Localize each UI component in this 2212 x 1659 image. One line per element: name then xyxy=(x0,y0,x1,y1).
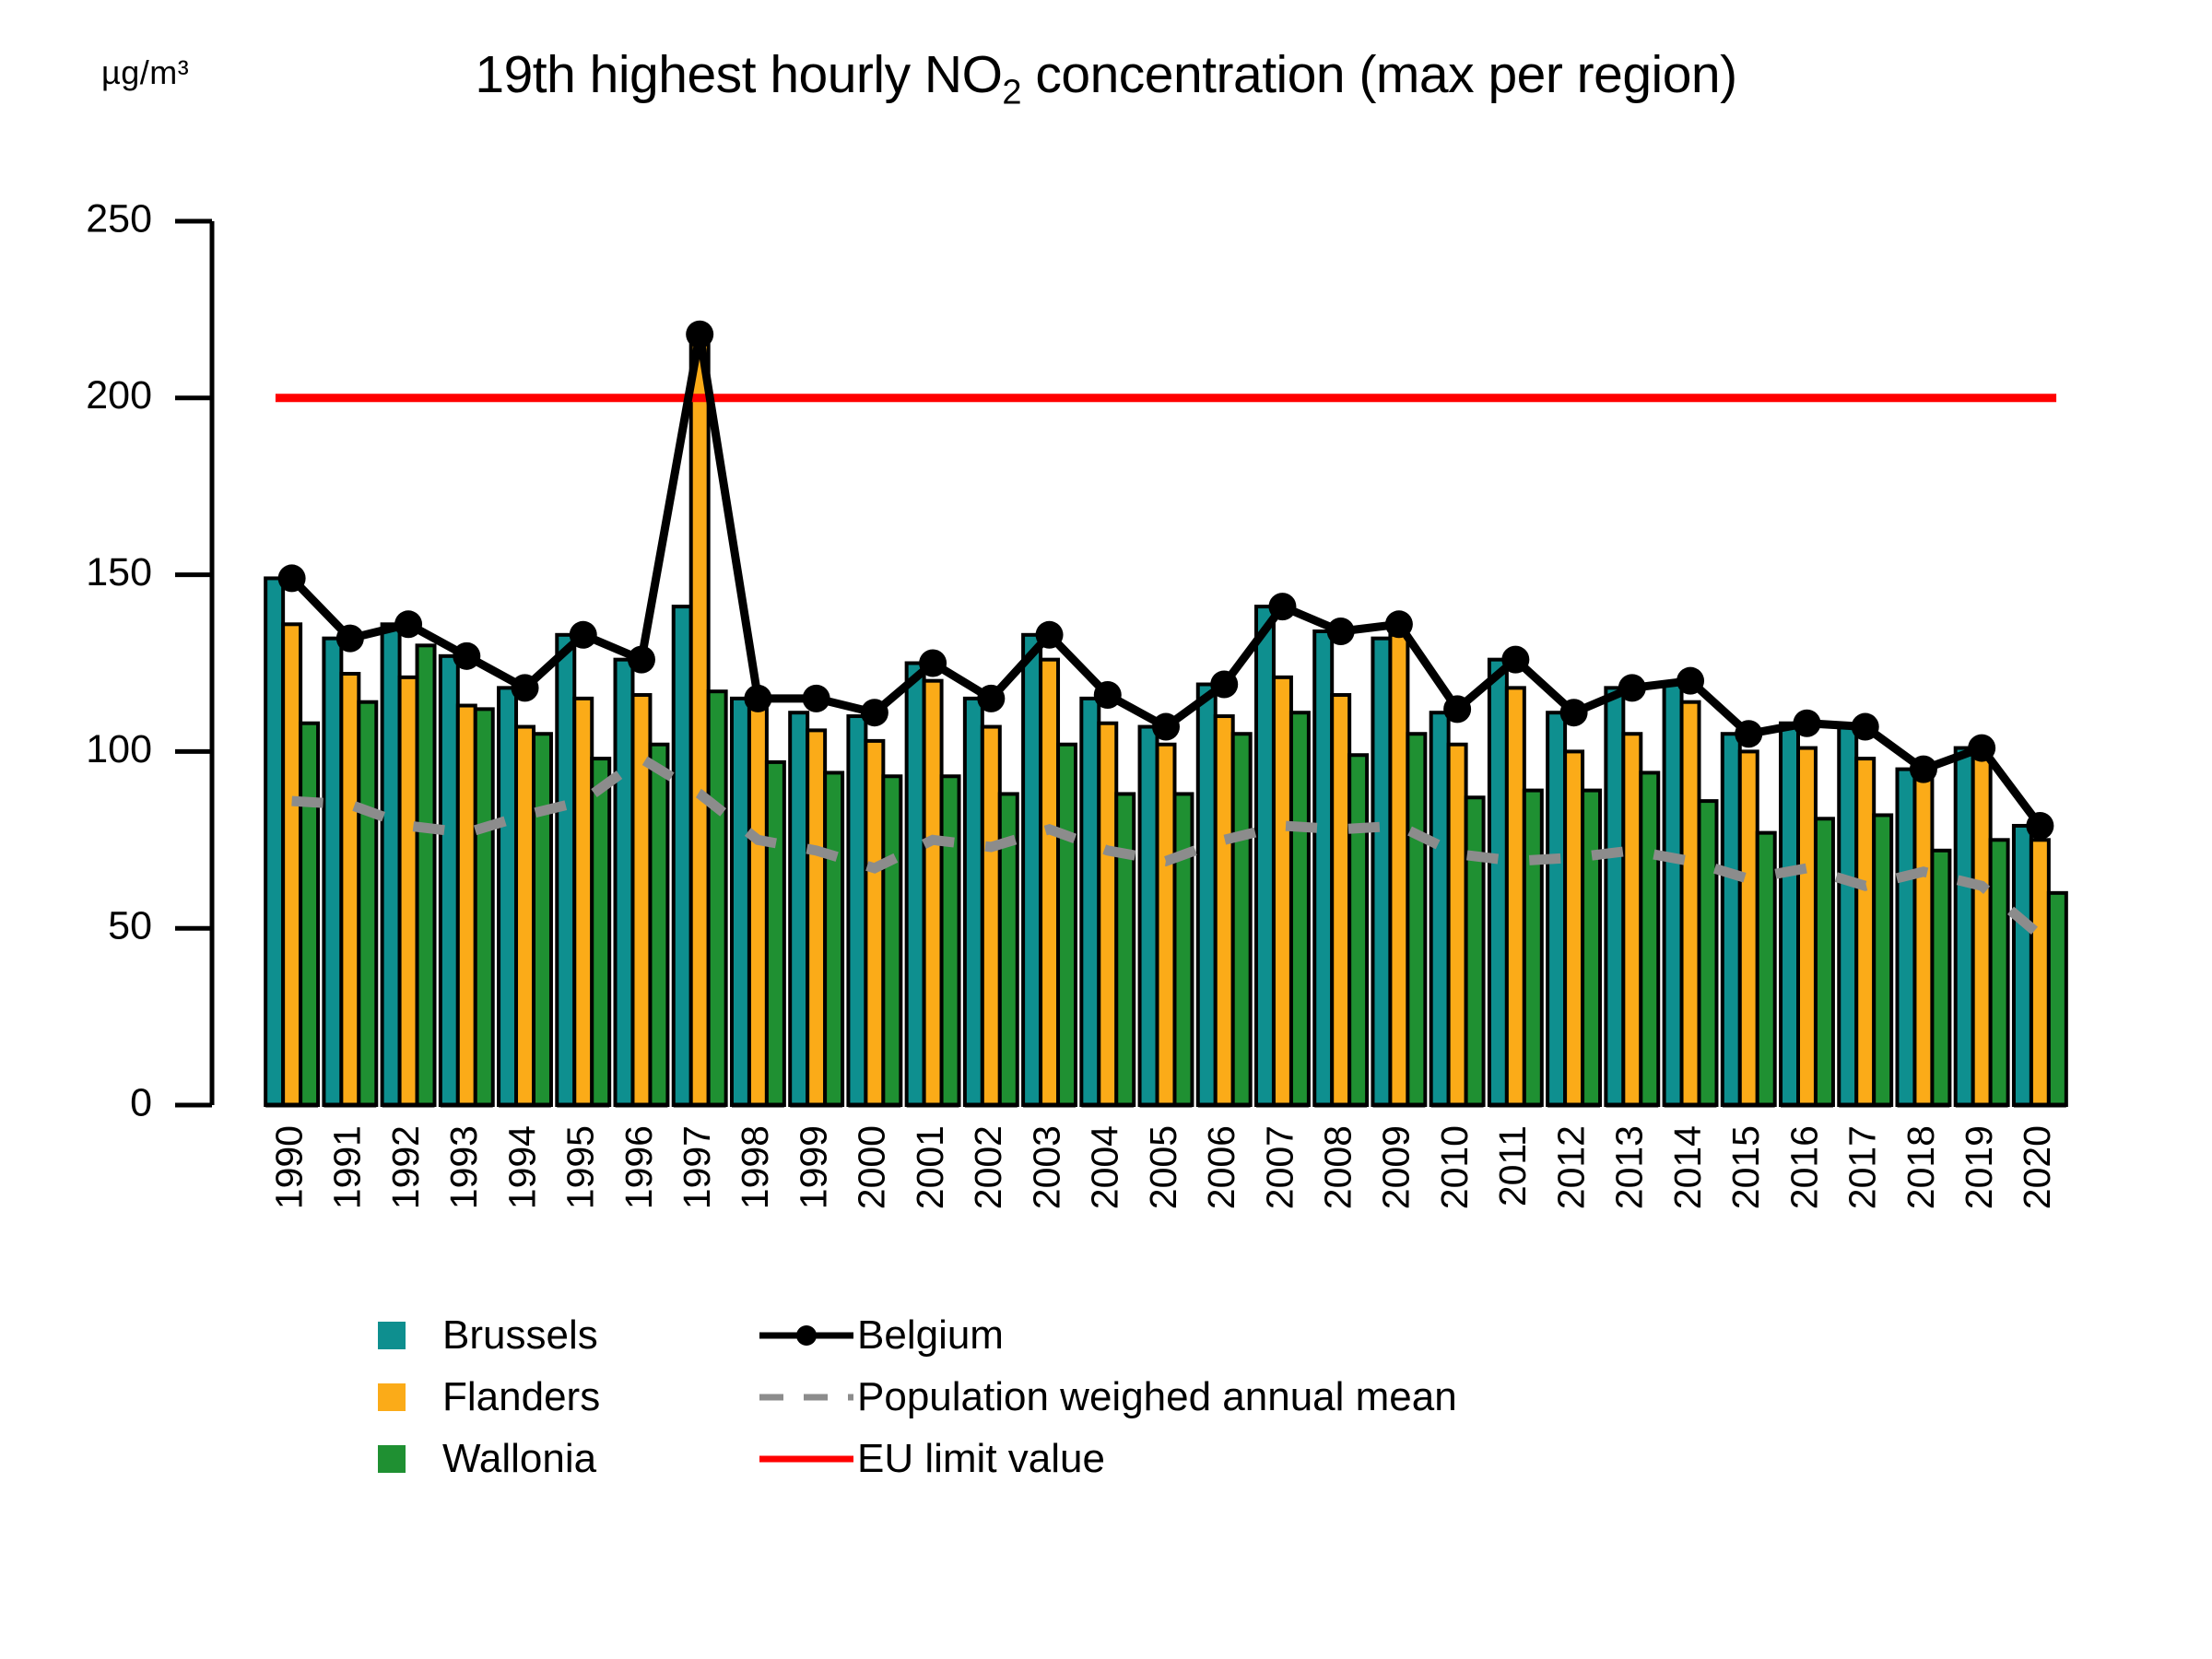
bar-wallonia[interactable] xyxy=(1349,755,1367,1105)
bar-brussels[interactable] xyxy=(1781,724,1798,1105)
bar-brussels[interactable] xyxy=(382,624,400,1105)
bar-flanders[interactable] xyxy=(1507,688,1524,1105)
x-tick-label: 2006 xyxy=(1200,1125,1242,1209)
x-tick-label: 2009 xyxy=(1375,1125,1418,1209)
x-tick-label: 1992 xyxy=(384,1125,427,1209)
x-tick-label: 1995 xyxy=(559,1125,602,1209)
bar-wallonia[interactable] xyxy=(1233,734,1251,1105)
bar-wallonia[interactable] xyxy=(942,776,959,1105)
bar-flanders[interactable] xyxy=(1682,702,1700,1105)
bar-wallonia[interactable] xyxy=(1758,833,1775,1105)
bar-brussels[interactable] xyxy=(1256,606,1274,1105)
belgium-marker[interactable] xyxy=(1152,713,1180,741)
x-tick-label: 2020 xyxy=(2016,1125,2058,1209)
bar-flanders[interactable] xyxy=(1565,751,1583,1105)
x-tick-label: 2014 xyxy=(1666,1125,1709,1209)
bar-brussels[interactable] xyxy=(1198,685,1216,1105)
legend-label-brussels: Brussels xyxy=(442,1315,598,1356)
x-tick-label: 2015 xyxy=(1724,1125,1767,1209)
bar-brussels[interactable] xyxy=(848,716,865,1105)
belgium-marker[interactable] xyxy=(1385,610,1413,638)
bar-flanders[interactable] xyxy=(924,681,942,1105)
bar-brussels[interactable] xyxy=(1314,631,1332,1105)
wallonia-swatch-icon xyxy=(341,1445,442,1473)
belgium-marker[interactable] xyxy=(1501,646,1529,674)
chart-root: µg/m³ 19th highest hourly NO2 concentrat… xyxy=(0,0,2212,1659)
bar-flanders[interactable] xyxy=(1449,745,1466,1105)
belgium-marker[interactable] xyxy=(861,699,888,726)
belgium-marker[interactable] xyxy=(453,642,480,670)
belgium-marker[interactable] xyxy=(628,646,655,674)
belgium-line-marker-icon xyxy=(756,1317,857,1354)
bar-wallonia[interactable] xyxy=(359,702,376,1105)
x-tick-label: 2005 xyxy=(1142,1125,1184,1209)
bar-flanders[interactable] xyxy=(1740,751,1758,1105)
bar-brussels[interactable] xyxy=(790,712,807,1105)
bar-wallonia[interactable] xyxy=(534,734,551,1105)
bar-flanders[interactable] xyxy=(1216,716,1233,1105)
bar-wallonia[interactable] xyxy=(1932,851,1949,1105)
y-tick-label: 100 xyxy=(86,727,152,771)
belgium-marker[interactable] xyxy=(1094,681,1122,709)
flanders-swatch-icon xyxy=(341,1383,442,1411)
y-tick-label: 50 xyxy=(108,904,152,948)
x-tick-label: 1997 xyxy=(676,1125,718,1209)
bar-flanders[interactable] xyxy=(1623,734,1641,1105)
legend-label-flanders: Flanders xyxy=(442,1377,600,1418)
x-tick-label: 1996 xyxy=(618,1125,660,1209)
x-axis: 1990199119921993199419951996199719981999… xyxy=(265,1105,2066,1209)
belgium-marker[interactable] xyxy=(1793,710,1820,737)
x-tick-label: 1993 xyxy=(442,1125,485,1209)
legend-label-belgium: Belgium xyxy=(857,1315,1004,1356)
belgium-marker[interactable] xyxy=(919,650,947,677)
x-tick-label: 2019 xyxy=(1958,1125,2000,1209)
belgium-marker[interactable] xyxy=(2026,812,2053,840)
x-tick-label: 2002 xyxy=(967,1125,1009,1209)
bar-flanders[interactable] xyxy=(1041,660,1058,1105)
bar-wallonia[interactable] xyxy=(1466,797,1484,1105)
brussels-swatch-icon xyxy=(341,1322,442,1349)
belgium-marker[interactable] xyxy=(1210,671,1238,699)
belgium-marker[interactable] xyxy=(1735,720,1762,747)
bar-brussels[interactable] xyxy=(1547,712,1565,1105)
bar-brussels[interactable] xyxy=(616,660,633,1105)
bar-flanders[interactable] xyxy=(1099,724,1116,1105)
x-tick-label: 2007 xyxy=(1258,1125,1300,1209)
y-tick-label: 200 xyxy=(86,373,152,418)
belgium-marker[interactable] xyxy=(1618,674,1646,701)
x-tick-label: 2003 xyxy=(1025,1125,1067,1209)
y-axis: 050100150200250 xyxy=(86,196,212,1124)
x-tick-label: 1991 xyxy=(326,1125,369,1209)
chart-legend: Brussels Flanders Wallonia xyxy=(0,1304,2212,1507)
bar-brussels[interactable] xyxy=(732,699,749,1105)
bar-flanders[interactable] xyxy=(458,706,476,1105)
bar-brussels[interactable] xyxy=(1023,635,1041,1105)
bar-wallonia[interactable] xyxy=(1641,772,1658,1105)
bar-brussels[interactable] xyxy=(499,688,516,1105)
bar-wallonia[interactable] xyxy=(650,745,667,1105)
bar-brussels[interactable] xyxy=(441,656,458,1105)
belgium-marker[interactable] xyxy=(1968,735,1995,762)
x-tick-label: 2016 xyxy=(1783,1125,1825,1209)
legend-item-population-mean[interactable]: Population weighed annual mean xyxy=(756,1366,1457,1428)
bar-flanders[interactable] xyxy=(1798,748,1816,1105)
x-tick-label: 2001 xyxy=(909,1125,951,1209)
legend-label-eu-limit: EU limit value xyxy=(857,1439,1105,1479)
x-tick-label: 2018 xyxy=(1900,1125,1942,1209)
legend-item-eu-limit[interactable]: EU limit value xyxy=(756,1428,1457,1489)
bar-flanders[interactable] xyxy=(283,624,300,1105)
bar-brussels[interactable] xyxy=(557,635,574,1105)
red-line-icon xyxy=(756,1441,857,1477)
belgium-marker[interactable] xyxy=(1268,593,1296,620)
bar-flanders[interactable] xyxy=(1914,776,1932,1105)
bar-brussels[interactable] xyxy=(965,699,982,1105)
bar-brussels[interactable] xyxy=(1372,639,1390,1105)
belgium-marker[interactable] xyxy=(686,321,713,348)
bar-brussels[interactable] xyxy=(674,606,691,1105)
belgium-marker[interactable] xyxy=(1677,667,1704,695)
belgium-marker[interactable] xyxy=(336,625,364,653)
x-tick-label: 2017 xyxy=(1841,1125,1884,1209)
x-tick-label: 1990 xyxy=(267,1125,310,1209)
bar-flanders[interactable] xyxy=(749,702,767,1105)
x-tick-label: 2011 xyxy=(1491,1125,1534,1206)
belgium-marker[interactable] xyxy=(1560,699,1588,726)
bar-flanders[interactable] xyxy=(1390,635,1407,1105)
bar-wallonia[interactable] xyxy=(1291,712,1309,1105)
x-tick-label: 1994 xyxy=(500,1125,543,1209)
bar-brussels[interactable] xyxy=(1140,727,1158,1105)
bar-brussels[interactable] xyxy=(907,664,924,1106)
legend-item-belgium[interactable]: Belgium xyxy=(756,1304,1457,1366)
bar-brussels[interactable] xyxy=(1665,685,1682,1105)
legend-item-flanders[interactable]: Flanders xyxy=(341,1366,600,1428)
bar-wallonia[interactable] xyxy=(1874,815,1891,1105)
bar-brussels[interactable] xyxy=(1431,712,1449,1105)
bar-flanders[interactable] xyxy=(1973,755,1991,1105)
bar-brussels[interactable] xyxy=(1956,748,1973,1105)
x-tick-label: 2012 xyxy=(1549,1125,1592,1209)
legend-item-wallonia[interactable]: Wallonia xyxy=(341,1428,600,1489)
bar-flanders[interactable] xyxy=(516,727,534,1105)
bar-brussels[interactable] xyxy=(1897,770,1914,1105)
bar-brussels[interactable] xyxy=(1081,699,1099,1105)
y-tick-label: 250 xyxy=(86,196,152,241)
bar-brussels[interactable] xyxy=(1489,660,1507,1105)
bar-flanders[interactable] xyxy=(865,741,883,1105)
bar-wallonia[interactable] xyxy=(1583,791,1600,1105)
bar-wallonia[interactable] xyxy=(1174,794,1192,1105)
bar-brussels[interactable] xyxy=(1723,734,1740,1105)
x-tick-label: 2004 xyxy=(1084,1125,1126,1209)
bar-brussels[interactable] xyxy=(1839,727,1856,1105)
x-tick-label: 2008 xyxy=(1317,1125,1359,1209)
bar-flanders[interactable] xyxy=(982,727,1000,1105)
x-tick-label: 2000 xyxy=(851,1125,893,1209)
bar-brussels[interactable] xyxy=(1606,688,1623,1105)
bar-wallonia[interactable] xyxy=(1116,794,1134,1105)
bar-wallonia[interactable] xyxy=(1058,745,1076,1105)
legend-label-wallonia: Wallonia xyxy=(442,1439,596,1479)
bar-wallonia[interactable] xyxy=(1816,818,1833,1105)
belgium-marker[interactable] xyxy=(803,685,830,712)
bar-brussels[interactable] xyxy=(265,578,283,1105)
y-tick-label: 150 xyxy=(86,550,152,594)
belgium-marker[interactable] xyxy=(394,610,422,638)
belgium-marker[interactable] xyxy=(1443,695,1471,723)
belgium-marker[interactable] xyxy=(744,685,771,712)
bar-flanders[interactable] xyxy=(400,677,418,1105)
y-tick-label: 0 xyxy=(130,1080,152,1124)
bar-wallonia[interactable] xyxy=(2049,893,2066,1105)
legend-column-regions: Brussels Flanders Wallonia xyxy=(341,1304,600,1489)
bar-wallonia[interactable] xyxy=(1700,801,1717,1105)
bar-flanders[interactable] xyxy=(341,674,359,1105)
bar-wallonia[interactable] xyxy=(709,691,726,1105)
bar-wallonia[interactable] xyxy=(300,724,318,1105)
bar-wallonia[interactable] xyxy=(1991,840,2008,1105)
legend-column-lines: Belgium Population weighed annual mean xyxy=(756,1304,1457,1489)
x-tick-label: 1998 xyxy=(734,1125,776,1209)
bar-wallonia[interactable] xyxy=(825,772,842,1105)
bar-wallonia[interactable] xyxy=(418,645,435,1105)
belgium-marker[interactable] xyxy=(1910,756,1937,783)
belgium-marker[interactable] xyxy=(512,674,539,701)
bar-brussels[interactable] xyxy=(324,639,341,1105)
belgium-marker[interactable] xyxy=(1852,713,1879,741)
bar-wallonia[interactable] xyxy=(1524,791,1542,1105)
dashed-line-icon xyxy=(756,1379,857,1416)
x-tick-label: 1999 xyxy=(792,1125,834,1209)
legend-label-population-mean: Population weighed annual mean xyxy=(857,1377,1457,1418)
legend-item-brussels[interactable]: Brussels xyxy=(341,1304,600,1366)
bar-wallonia[interactable] xyxy=(476,709,493,1105)
bar-flanders[interactable] xyxy=(1856,759,1874,1105)
bar-wallonia[interactable] xyxy=(592,759,609,1105)
bar-wallonia[interactable] xyxy=(1407,734,1425,1105)
belgium-marker[interactable] xyxy=(1036,621,1064,649)
bar-flanders[interactable] xyxy=(691,335,709,1105)
bar-flanders[interactable] xyxy=(2031,840,2049,1105)
bar-wallonia[interactable] xyxy=(767,762,784,1105)
bar-flanders[interactable] xyxy=(807,730,825,1105)
x-tick-label: 2010 xyxy=(1433,1125,1476,1209)
x-tick-label: 2013 xyxy=(1608,1125,1651,1209)
belgium-marker[interactable] xyxy=(1327,618,1355,645)
bar-brussels[interactable] xyxy=(2014,826,2031,1105)
bar-wallonia[interactable] xyxy=(883,776,900,1105)
bar-flanders[interactable] xyxy=(1158,745,1175,1105)
belgium-marker[interactable] xyxy=(977,685,1005,712)
belgium-marker[interactable] xyxy=(278,564,306,592)
bar-flanders[interactable] xyxy=(1332,695,1349,1105)
bar-flanders[interactable] xyxy=(1274,677,1291,1105)
bar-flanders[interactable] xyxy=(574,699,592,1105)
belgium-marker[interactable] xyxy=(570,621,597,649)
